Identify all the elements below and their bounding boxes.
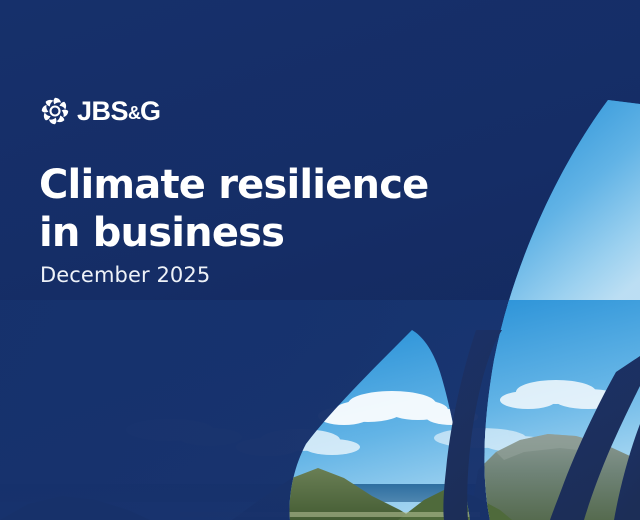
slide-date: December 2025 <box>40 263 210 288</box>
pinwheel-logo-icon <box>40 96 70 126</box>
wordmark-ampersand: & <box>128 103 140 123</box>
leaf-petal-landscape-graphic <box>0 0 640 520</box>
presentation-slide: JBS&G Climate resilience in business Dec… <box>0 0 640 520</box>
jbsg-logo: JBS&G <box>40 96 161 126</box>
wordmark-tail: G <box>140 96 161 126</box>
slide-title: Climate resilience in business <box>39 161 459 257</box>
wordmark-lead: JBS <box>77 96 128 126</box>
jbsg-wordmark: JBS&G <box>77 98 161 125</box>
